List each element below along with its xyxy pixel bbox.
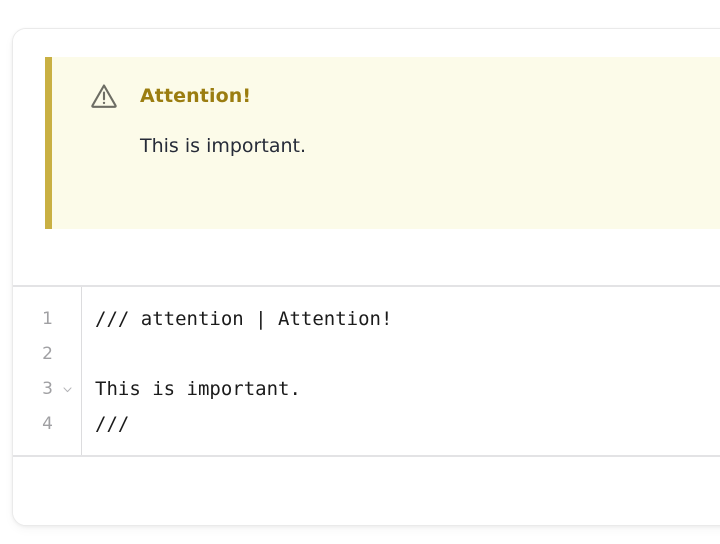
line-number-label: 1 [42, 309, 53, 329]
admonition-body: This is important. [52, 111, 720, 157]
line-number: 3 [13, 372, 81, 407]
code-line[interactable] [95, 337, 720, 372]
code-editor-pane[interactable]: 1 2 3 4 /// attention | Attention! This … [13, 287, 720, 457]
code-text-area[interactable]: /// attention | Attention! This is impor… [82, 287, 720, 455]
line-number: 1 [13, 302, 81, 337]
attention-admonition: Attention! This is important. [45, 57, 720, 229]
line-number-label: 2 [42, 344, 53, 364]
line-number: 2 [13, 337, 81, 372]
line-number-label: 3 [42, 379, 53, 399]
card-footer-strip [13, 457, 720, 525]
code-line[interactable]: This is important. [95, 372, 720, 407]
line-number: 4 [13, 407, 81, 442]
code-line[interactable]: /// attention | Attention! [95, 302, 720, 337]
line-number-label: 4 [42, 414, 53, 434]
preview-pane: Attention! This is important. [13, 29, 720, 287]
chevron-down-icon[interactable] [62, 372, 73, 407]
warning-triangle-icon [89, 81, 119, 111]
admonition-title-row: Attention! [52, 57, 720, 111]
line-number-gutter: 1 2 3 4 [13, 287, 82, 455]
admonition-title: Attention! [140, 85, 251, 107]
code-line[interactable]: /// [95, 407, 720, 442]
editor-preview-card: Attention! This is important. 1 2 3 [12, 28, 720, 526]
